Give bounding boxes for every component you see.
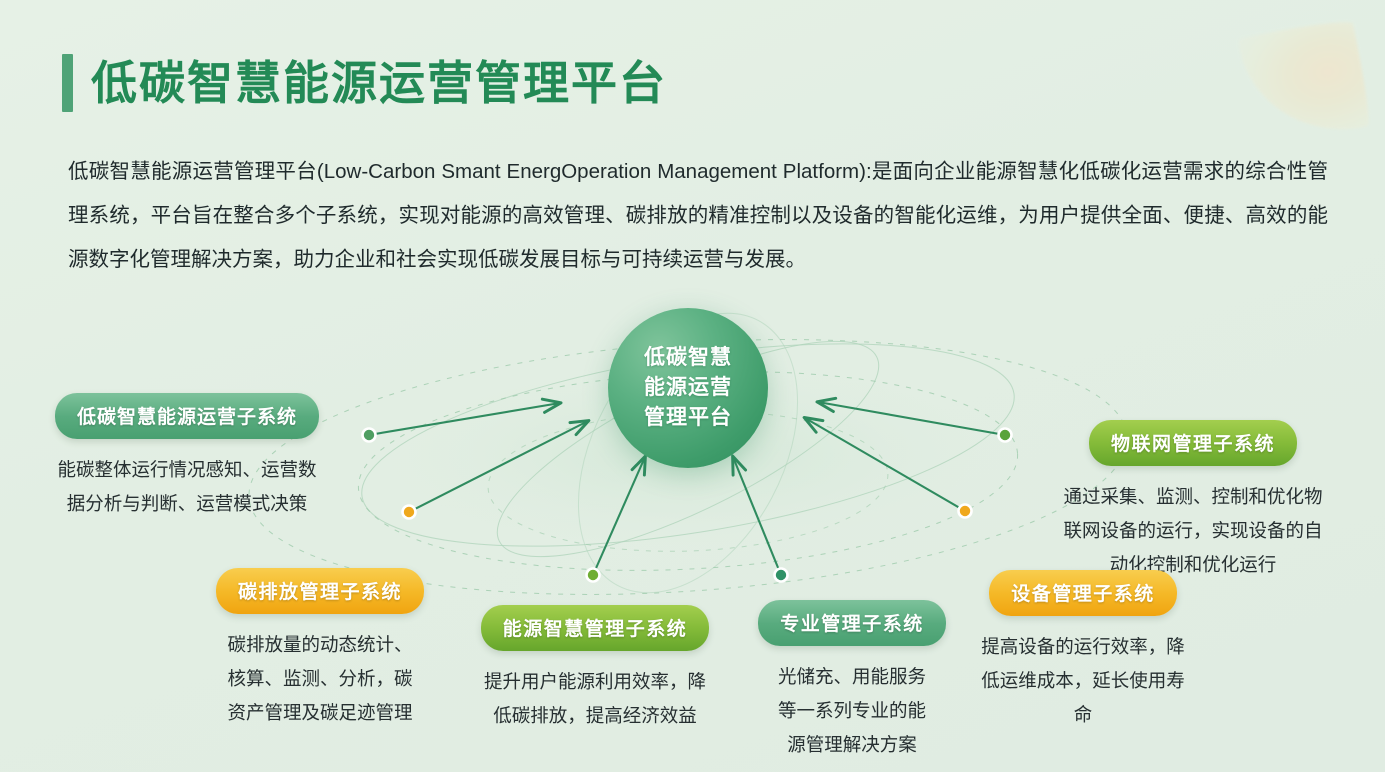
subsystem-carbon-label[interactable]: 碳排放管理子系统: [216, 568, 424, 614]
subsystem-energy-label[interactable]: 能源智慧管理子系统: [481, 605, 710, 651]
subsystem-iot[interactable]: 物联网管理子系统 通过采集、监测、控制和优化物 联网设备的运行，实现设备的自 动…: [1028, 420, 1358, 582]
leaf-decoration-icon: [1238, 15, 1375, 149]
subsystem-device-label[interactable]: 设备管理子系统: [989, 570, 1177, 616]
dot-device: [959, 505, 972, 518]
dot-lowcarbon: [363, 429, 376, 442]
subsystem-energy[interactable]: 能源智慧管理子系统 提升用户能源利用效率，降 低碳排放，提高经济效益: [445, 605, 745, 733]
dot-pro: [775, 569, 788, 582]
subsystem-device-description: 提高设备的运行效率，降 低运维成本，延长使用寿 命: [938, 630, 1228, 732]
subsystem-energy-description: 提升用户能源利用效率，降 低碳排放，提高经济效益: [445, 665, 745, 733]
subsystem-device[interactable]: 设备管理子系统 提高设备的运行效率，降 低运维成本，延长使用寿 命: [938, 570, 1228, 732]
page-header: 低碳智慧能源运营管理平台: [62, 54, 667, 112]
dot-iot: [999, 429, 1012, 442]
diagram-stage: 低碳智慧 能源运营 管理平台 低碳智慧能源运营子系统 能碳整体运行情况感知、运营…: [0, 285, 1385, 772]
dot-energy: [587, 569, 600, 582]
intro-paragraph: 低碳智慧能源运营管理平台(Low-Carbon Smant EnergOpera…: [68, 150, 1328, 282]
page-title: 低碳智慧能源运营管理平台: [91, 60, 667, 106]
subsystem-professional-label[interactable]: 专业管理子系统: [758, 600, 946, 646]
hub-line-2: 能源运营: [644, 373, 732, 403]
subsystem-iot-description: 通过采集、监测、控制和优化物 联网设备的运行，实现设备的自 动化控制和优化运行: [1028, 480, 1358, 582]
title-accent-bar: [62, 54, 73, 112]
dot-carbon: [403, 506, 416, 519]
subsystem-lowcarbon-label[interactable]: 低碳智慧能源运营子系统: [55, 393, 319, 439]
slide-canvas: 低碳智慧能源运营管理平台 低碳智慧能源运营管理平台(Low-Carbon Sma…: [0, 0, 1385, 772]
subsystem-lowcarbon-description: 能碳整体运行情况感知、运营数 据分析与判断、运营模式决策: [22, 453, 352, 521]
hub-line-3: 管理平台: [644, 403, 732, 433]
subsystem-iot-label[interactable]: 物联网管理子系统: [1089, 420, 1297, 466]
central-hub: 低碳智慧 能源运营 管理平台: [608, 308, 768, 468]
subsystem-carbon[interactable]: 碳排放管理子系统 碳排放量的动态统计、 核算、监测、分析，碳 资产管理及碳足迹管…: [170, 568, 470, 730]
hub-line-1: 低碳智慧: [644, 343, 732, 373]
subsystem-lowcarbon[interactable]: 低碳智慧能源运营子系统 能碳整体运行情况感知、运营数 据分析与判断、运营模式决策: [22, 393, 352, 521]
subsystem-carbon-description: 碳排放量的动态统计、 核算、监测、分析，碳 资产管理及碳足迹管理: [170, 628, 470, 730]
